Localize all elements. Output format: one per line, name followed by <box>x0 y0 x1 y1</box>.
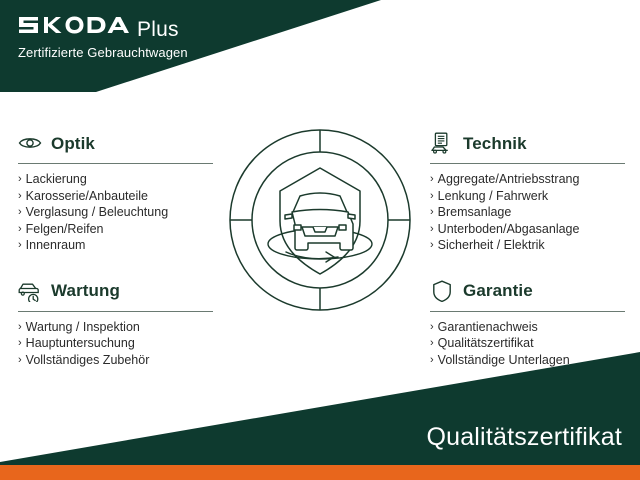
list-technik: ›Aggregate/Antriebsstrang ›Lenkung / Fah… <box>430 171 630 254</box>
list-item: ›Hauptuntersuchung <box>18 335 218 352</box>
list-garantie: ›Garantienachweis ›Qualitätszertifikat ›… <box>430 319 630 369</box>
list-item: ›Verglasung / Beleuchtung <box>18 204 218 221</box>
list-item: ›Bremsanlage <box>430 204 630 221</box>
section-title-optik: Optik <box>51 135 95 152</box>
chevron-right-icon: › <box>430 352 434 369</box>
section-divider-technik <box>430 163 625 164</box>
chevron-right-icon: › <box>18 221 22 238</box>
brand-subtitle: Zertifizierte Gebrauchtwagen <box>18 45 188 60</box>
list-item-label: Vollständige Unterlagen <box>438 352 570 369</box>
list-item: ›Garantienachweis <box>430 319 630 336</box>
list-item-label: Karosserie/Anbauteile <box>26 188 148 205</box>
certified-vehicle-shield-emblem <box>228 128 412 312</box>
footer-title: Qualitätszertifikat <box>426 423 622 452</box>
car-service-clock-icon <box>18 280 42 302</box>
chevron-right-icon: › <box>18 352 22 369</box>
section-head-wartung: Wartung <box>18 278 218 304</box>
list-item: ›Lackierung <box>18 171 218 188</box>
brand-row: Plus <box>18 14 188 40</box>
section-title-garantie: Garantie <box>463 282 533 299</box>
chevron-right-icon: › <box>18 237 22 254</box>
section-title-wartung: Wartung <box>51 282 120 299</box>
list-item: ›Unterboden/Abgasanlage <box>430 221 630 238</box>
section-garantie: Garantie ›Garantienachweis ›Qualitätszer… <box>430 278 630 369</box>
car-document-icon <box>430 132 454 154</box>
list-item-label: Wartung / Inspektion <box>26 319 140 336</box>
brand-logo-block: Plus Zertifizierte Gebrauchtwagen <box>18 14 188 60</box>
list-item-label: Sicherheit / Elektrik <box>438 237 545 254</box>
column-left: Optik ›Lackierung ›Karosserie/Anbauteile… <box>18 130 218 368</box>
chevron-right-icon: › <box>430 319 434 336</box>
chevron-right-icon: › <box>430 188 434 205</box>
list-item-label: Innenraum <box>26 237 86 254</box>
list-item: ›Aggregate/Antriebsstrang <box>430 171 630 188</box>
skoda-wordmark-icon <box>18 14 130 36</box>
chevron-right-icon: › <box>18 171 22 188</box>
list-item: ›Vollständiges Zubehör <box>18 352 218 369</box>
section-divider-optik <box>18 163 213 164</box>
list-item-label: Bremsanlage <box>438 204 512 221</box>
section-technik: Technik ›Aggregate/Antriebsstrang ›Lenku… <box>430 130 630 254</box>
chevron-right-icon: › <box>18 188 22 205</box>
list-item-label: Qualitätszertifikat <box>438 335 534 352</box>
list-item: ›Karosserie/Anbauteile <box>18 188 218 205</box>
brand-plus-label: Plus <box>137 19 179 40</box>
list-item-label: Vollständiges Zubehör <box>26 352 150 369</box>
list-item-label: Aggregate/Antriebsstrang <box>438 171 580 188</box>
footer-orange-bar <box>0 465 640 480</box>
chevron-right-icon: › <box>18 335 22 352</box>
list-item: ›Wartung / Inspektion <box>18 319 218 336</box>
list-item-label: Lackierung <box>26 171 87 188</box>
section-title-technik: Technik <box>463 135 527 152</box>
section-divider-garantie <box>430 311 625 312</box>
list-item-label: Lenkung / Fahrwerk <box>438 188 548 205</box>
list-item: ›Qualitätszertifikat <box>430 335 630 352</box>
chevron-right-icon: › <box>430 237 434 254</box>
section-optik: Optik ›Lackierung ›Karosserie/Anbauteile… <box>18 130 218 254</box>
list-item-label: Verglasung / Beleuchtung <box>26 204 168 221</box>
list-item: ›Felgen/Reifen <box>18 221 218 238</box>
chevron-right-icon: › <box>430 171 434 188</box>
chevron-right-icon: › <box>430 221 434 238</box>
list-item-label: Unterboden/Abgasanlage <box>438 221 580 238</box>
list-item: ›Lenkung / Fahrwerk <box>430 188 630 205</box>
list-item: ›Vollständige Unterlagen <box>430 352 630 369</box>
list-item: ›Sicherheit / Elektrik <box>430 237 630 254</box>
chevron-right-icon: › <box>18 319 22 336</box>
list-wartung: ›Wartung / Inspektion ›Hauptuntersuchung… <box>18 319 218 369</box>
eye-icon <box>18 132 42 154</box>
list-optik: ›Lackierung ›Karosserie/Anbauteile ›Verg… <box>18 171 218 254</box>
section-wartung: Wartung ›Wartung / Inspektion ›Hauptunte… <box>18 278 218 369</box>
list-item-label: Felgen/Reifen <box>26 221 104 238</box>
list-item-label: Garantienachweis <box>438 319 538 336</box>
section-head-technik: Technik <box>430 130 630 156</box>
chevron-right-icon: › <box>430 335 434 352</box>
section-head-garantie: Garantie <box>430 278 630 304</box>
section-head-optik: Optik <box>18 130 218 156</box>
chevron-right-icon: › <box>18 204 22 221</box>
list-item: ›Innenraum <box>18 237 218 254</box>
list-item-label: Hauptuntersuchung <box>26 335 135 352</box>
chevron-right-icon: › <box>430 204 434 221</box>
section-divider-wartung <box>18 311 213 312</box>
shield-icon <box>430 280 454 302</box>
footer-band <box>0 352 640 480</box>
column-right: Technik ›Aggregate/Antriebsstrang ›Lenku… <box>430 130 630 368</box>
